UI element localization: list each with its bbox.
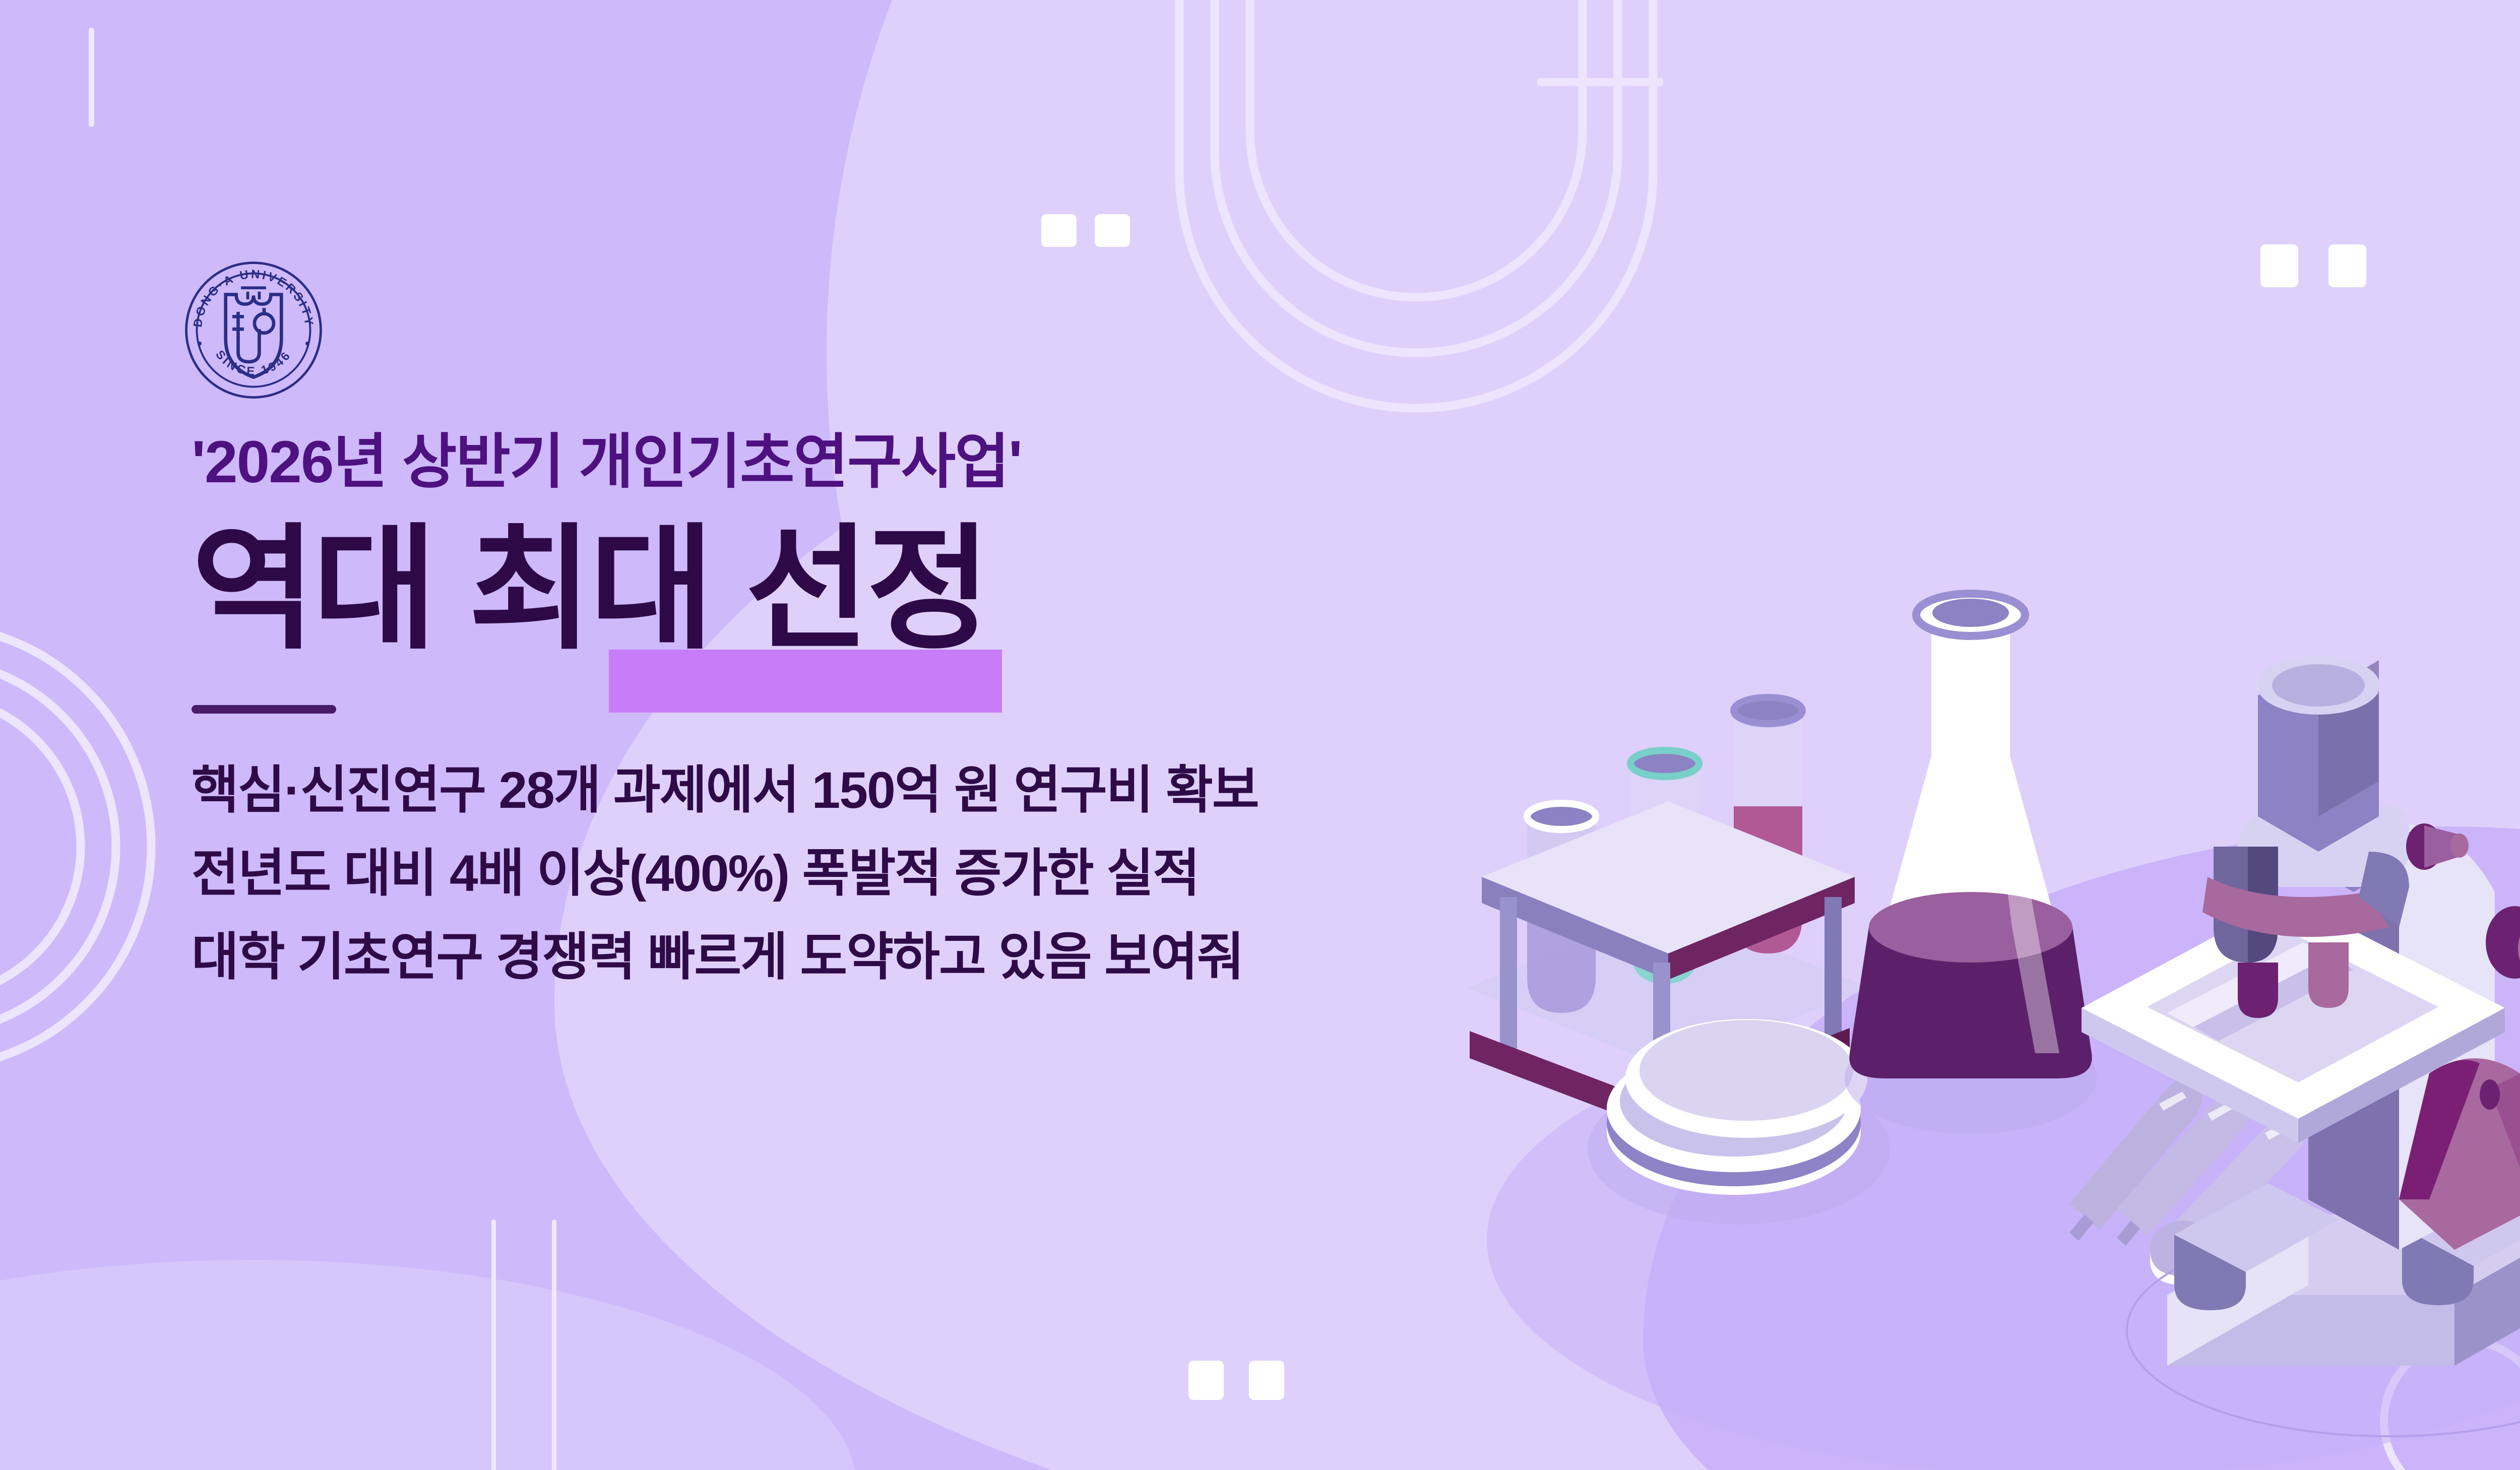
svg-text:SINCE 1946: SINCE 1946 bbox=[213, 348, 294, 378]
decor-square-top-b bbox=[1095, 214, 1130, 247]
content-column: '2026년 상반기 개인기초연구사업' 역대 최대 선정 핵심·신진연구 28… bbox=[192, 413, 1502, 999]
body-line-list: 핵심·신진연구 28개 과제에서 150억 원 연구비 확보 전년도 대비 4배… bbox=[192, 749, 1502, 999]
body-line: 핵심·신진연구 28개 과제에서 150억 원 연구비 확보 bbox=[192, 749, 1502, 832]
eyebrow-text: '2026년 상반기 개인기초연구사업' bbox=[192, 413, 1502, 499]
decor-hline-top bbox=[1537, 78, 1663, 86]
laboratory-illustration bbox=[1452, 544, 2520, 1470]
page-title: 역대 최대 선정 bbox=[192, 518, 988, 661]
decor-square-bottom-b bbox=[1249, 1361, 1284, 1400]
decor-vline-bottom-b bbox=[552, 1220, 556, 1470]
decor-square-topright-a bbox=[2260, 244, 2298, 287]
headline-wrap: 역대 최대 선정 bbox=[192, 518, 988, 661]
lab-scene-svg bbox=[1452, 544, 2520, 1470]
university-emblem: DONG·A UNIVERSITY SINCE 1946 bbox=[181, 258, 326, 402]
body-line: 대학 기초연구 경쟁력 빠르게 도약하고 있음 보여줘 bbox=[192, 916, 1502, 999]
promo-banner: DONG·A UNIVERSITY SINCE 1946 '2026년 상반기 … bbox=[0, 0, 2520, 1470]
body-line: 전년도 대비 4배 이상(400%) 폭발적 증가한 실적 bbox=[192, 832, 1502, 915]
decor-square-top-a bbox=[1041, 214, 1077, 247]
erlenmeyer-flask bbox=[1845, 594, 2097, 1134]
decor-vline-bottom-a bbox=[491, 1220, 496, 1470]
decor-vline-topleft bbox=[89, 28, 94, 127]
decor-square-topright-b bbox=[2328, 244, 2366, 287]
section-divider bbox=[192, 705, 336, 714]
decor-square-bottom-a bbox=[1188, 1361, 1224, 1400]
seal-icon: DONG·A UNIVERSITY SINCE 1946 bbox=[181, 258, 326, 402]
